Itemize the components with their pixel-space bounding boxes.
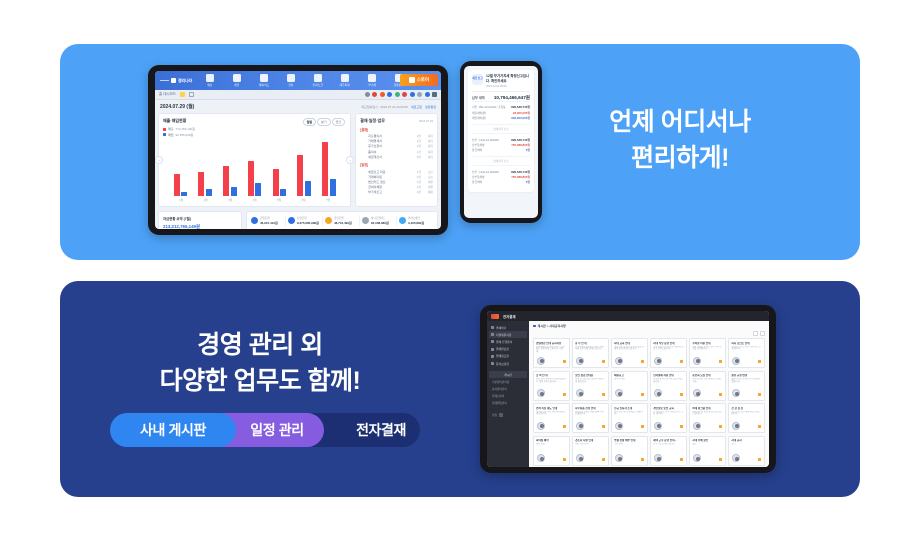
bar-group <box>268 169 291 196</box>
sidebar-item-5[interactable]: 문서보관함 <box>489 360 527 367</box>
bar-group <box>317 142 340 195</box>
account-grid-item[interactable]: 우리은행894,980원 <box>250 228 286 229</box>
status-badge <box>602 425 605 428</box>
board-card-body: 안녕하세요 총무팀 입니다. 사내 하계 휴무 일정 안내드립니다... <box>575 346 606 354</box>
board-card-title: 주차장 이용 안내 <box>692 342 723 345</box>
nav-item-6[interactable]: 부가세 <box>359 74 385 87</box>
status-badge <box>602 458 605 461</box>
list-item[interactable]: 법인카드 정산1건내일 <box>360 179 433 184</box>
avatar <box>576 422 584 430</box>
avatar <box>576 454 584 462</box>
tax-line-value: 896,538,740원 <box>511 105 530 109</box>
gear-icon[interactable] <box>425 92 430 97</box>
board-settings-icon[interactable] <box>499 413 503 417</box>
store-label: 스토어 <box>417 77 429 83</box>
chart-next-icon[interactable]: › <box>346 156 354 164</box>
sidebar-item-icon <box>491 348 494 351</box>
list-item-name: 세금계산서 <box>360 155 409 159</box>
legend-item-sales: 매출 772,156,140원 <box>163 127 346 131</box>
list-item-count: 3건 <box>411 190 421 194</box>
account-grid-item[interactable]: 농협894,190원 <box>287 228 323 229</box>
account-grid-item[interactable]: 신한카드894,890원 <box>398 228 434 229</box>
list-item[interactable]: 급여이체일1건내일 <box>360 185 433 190</box>
tax-total-row: 납부 세액 10,794,466,647원 <box>472 91 530 101</box>
sidebar-item-label: 문서보관함 <box>496 362 509 366</box>
bank-value: 8,375,080,980원 <box>297 221 319 225</box>
board-card-body: 근무 기준 안내드립니다 <box>653 443 684 451</box>
list-group-title: [결재] <box>360 127 433 132</box>
top-headline: 언제 어디서나 편리하게! <box>540 104 820 177</box>
status-badge <box>641 458 644 461</box>
avatar <box>654 422 662 430</box>
bar-chart-plot <box>163 140 346 196</box>
toggle-quarterly[interactable]: 분기 <box>317 118 331 126</box>
list-item-name: 급여이체일 <box>360 185 409 189</box>
chart-range-toggle: 월별 분기 연간 <box>303 118 346 126</box>
tax-notice-timestamp: 2023-12-01 09:00 <box>486 85 530 88</box>
board-card-body: 사내 시스템 보안 점검이 예정되어 있습니다... <box>575 378 606 386</box>
avatar <box>693 357 701 365</box>
board-card[interactable]: 사무용품 신청 안내사무용품 신청은 매월 첫째 주에 진행됩니다... <box>572 403 609 433</box>
bar-매출 <box>248 161 254 196</box>
info-icon[interactable] <box>387 92 392 97</box>
board-card[interactable]: 개인정보 보호 교육전 직원 필수 교육 과정입니다. 기한 내 이수... <box>650 403 687 433</box>
xaxis-tick: 1월 <box>169 198 193 202</box>
nav-label: 매입 <box>234 83 239 87</box>
calendar-icon[interactable] <box>402 92 407 97</box>
avatar <box>615 422 623 430</box>
board-card[interactable]: 동호회 모집 안내사내 동호회 신규 회원을 모집합니다... <box>689 371 726 401</box>
status-badge <box>680 360 683 363</box>
list-item-count: 3건 <box>411 134 421 138</box>
legend-swatch-purchase <box>163 133 166 136</box>
list-item-status: 오늘 <box>423 170 433 174</box>
status-badge <box>758 360 761 363</box>
bar-group <box>218 166 241 195</box>
sidebar-item-icon <box>491 333 494 336</box>
dashboard-body: 2024.07.29 (월) 최근접속일시 : 2024.07.29 14:02… <box>155 100 441 229</box>
bank-icon <box>325 217 332 224</box>
avatar <box>654 389 662 397</box>
xaxis-tick: 2월 <box>193 198 217 202</box>
board-card-title: 채용공고 <box>614 374 645 377</box>
status-badge <box>758 458 761 461</box>
tax-line: 매입세액(원)936,900,000원 <box>472 115 530 120</box>
board-card-title: 사내 교육 안내 <box>614 342 645 345</box>
list-item-count: 1건 <box>411 150 421 154</box>
board-card[interactable]: 급 여 안 내이달 급여 명세서가 발행되었습니다. 확인 부탁드립니다... <box>533 371 570 401</box>
bank-icon <box>362 217 369 224</box>
nav-label: 부가세 <box>368 83 375 87</box>
board-card-title: 재택 근무 운영 안내... <box>653 439 684 442</box>
promo-page: 경리나라 매출 매입 계좌/카드 급여 인사/노무 재무회계 부가세 경영관리 <box>0 0 920 540</box>
account-grid-item[interactable]: 카카오뱅크3,495,890원 <box>398 215 434 227</box>
sidebar-link[interactable]: 결재위임관리 <box>489 400 527 407</box>
list-item-status: 대기 <box>423 134 433 138</box>
top-promo-panel: 경리나라 매출 매입 계좌/카드 급여 인사/노무 재무회계 부가세 경영관리 <box>60 44 860 260</box>
star-icon[interactable] <box>180 92 185 97</box>
bar-group <box>194 172 217 196</box>
list-view-icon[interactable] <box>760 331 765 336</box>
legend-label: 매출 <box>168 127 174 131</box>
pill-board[interactable]: 사내 게시판 <box>110 413 236 447</box>
board-card[interactable]: 출장 규정 변경출장비 정산 규정이 일부 변경되었습니다... <box>728 371 765 401</box>
tax-line: 환급세액0원 <box>472 148 530 153</box>
chart-prev-icon[interactable]: ‹ <box>155 156 163 164</box>
bar-매입 <box>206 189 212 195</box>
tax-notice-card: 세금 신고 12월 부가가치세 확정신고입니다. 확인하세요 2023-12-0… <box>468 70 534 192</box>
toggle-yearly[interactable]: 연간 <box>332 118 346 126</box>
tax-line: 기업 : 892-12-04104 / 홍길동896,538,740원 <box>472 105 530 110</box>
bar-매출 <box>174 174 180 195</box>
refresh-button[interactable]: 새로고침 <box>411 105 422 109</box>
avatar <box>693 422 701 430</box>
list-item-name: 거래처미팅 <box>360 175 409 179</box>
list-item-count: 5건 <box>411 155 421 159</box>
top-headline-line1: 언제 어디서나 <box>540 104 820 140</box>
nav-icon-payroll <box>287 74 295 82</box>
tax-badge-icon: 세금 신고 <box>472 74 483 85</box>
bar-매출 <box>273 169 279 196</box>
nav-label: 급여 <box>288 83 293 87</box>
account-grid-item[interactable]: 국민은행48,716,490원 <box>324 215 360 227</box>
summary-value: 213,212,765,149원 <box>163 224 237 230</box>
bank-value: 46,915,410원 <box>260 221 278 225</box>
sidebar-item-0[interactable]: 결재하기 <box>489 324 527 331</box>
status-badge <box>758 425 761 428</box>
tablet-device-board: 전자결재 결재하기미결재문서함결재 진행문서결재완료함결재참조함문서보관함 게시… <box>480 305 776 473</box>
bottom-headline-line1: 경영 관리 외 <box>90 327 430 363</box>
pill-label: 전자결재 <box>356 420 406 440</box>
tax-line-label: 납부할세액 <box>472 143 484 147</box>
logo-mark-icon <box>171 78 176 83</box>
account-grid-item[interactable]: 수협은행94,030원 <box>324 228 360 229</box>
list-item-count: 1건 <box>411 170 421 174</box>
tax-line-value: 936,900,000원 <box>511 116 530 120</box>
list-item[interactable]: 품의서1건대기 <box>360 149 433 154</box>
board-card[interactable]: 전자결재 사용 안내전자결재 시스템 사용법을 안내드립니다... <box>650 371 687 401</box>
board-card-body: 수령 안내 <box>614 443 645 451</box>
tax-line-label: 납부 : 1344-01-000445 <box>472 170 499 174</box>
settings-icon[interactable] <box>365 92 370 97</box>
nav-item-0[interactable]: 매출 <box>197 74 223 87</box>
board-card[interactable]: 신규 입사자 소개이번 달 신규 입사자를 소개합니다... <box>611 403 648 433</box>
nav-item-5[interactable]: 재무회계 <box>332 74 358 87</box>
phone-device: 세금 신고 12월 부가가치세 확정신고입니다. 확인하세요 2023-12-0… <box>460 61 542 223</box>
sidebar-item-2[interactable]: 결재 진행문서 <box>489 338 527 345</box>
bar-매출 <box>198 172 204 196</box>
avatar <box>537 389 545 397</box>
sidebar-link[interactable]: 문서양식관리 <box>489 385 527 392</box>
board-card-title: 복지 포인트 안내 <box>731 342 762 345</box>
status-badge <box>680 393 683 396</box>
account-grid-item[interactable]: 기업은행46,915,410원 <box>250 215 286 227</box>
board-card-body: 연간 건강 검진 대상자를 안내드립니다... <box>731 411 762 419</box>
tax-line-value: 896,538,740원 <box>511 170 530 174</box>
tab-home-dashboard[interactable]: 홈 대시보드 <box>159 92 176 97</box>
avatar <box>693 389 701 397</box>
grid-view-icon[interactable] <box>753 331 758 336</box>
board-card[interactable]: 건 강 검 진연간 건강 검진 대상자를 안내드립니다... <box>728 403 765 433</box>
sales-purchase-chart-card: 매출·매입현황 월별 분기 연간 매출 772,156,140원 <box>158 113 351 207</box>
nav-label: 인사/노무 <box>313 83 324 87</box>
tax-item: 납부 : 1344-01-000445896,538,740원납부할세액750,… <box>472 133 530 156</box>
logo-bar-icon <box>160 80 169 81</box>
board-card[interactable]: 명절 선물 배부 안내수령 안내 <box>611 436 648 466</box>
list-item-name: 품의서 <box>360 150 409 154</box>
avatar <box>537 422 545 430</box>
tax-more-link[interactable]: 상세내역 보기 <box>472 124 530 133</box>
board-card[interactable]: 사내 카페 할인할인 <box>689 436 726 466</box>
dashboard-bottom-row: 자금현황 요약 (7월) 213,212,765,149원 기업은행46,915… <box>158 211 438 230</box>
legend-swatch-sales <box>163 128 166 131</box>
board-card-title: 경조사 지원 안내 <box>575 439 606 442</box>
feature-pill-row: 전자결재 일정 관리 사내 게시판 <box>110 413 420 447</box>
bar-group <box>243 161 266 196</box>
alert-icon[interactable] <box>372 92 377 97</box>
top-headline-line2: 편리하게! <box>540 140 820 176</box>
nav-icon-accounting <box>341 74 349 82</box>
tax-line-label: 매출세액(원) <box>472 111 486 115</box>
toggle-monthly[interactable]: 월별 <box>303 118 317 126</box>
nav-item-1[interactable]: 매입 <box>224 74 250 87</box>
board-card-title: 회의실 예약 <box>536 439 567 442</box>
board-card-body: 구내 식당 운영 시간이 변경되오니 참고 부탁드립니다... <box>653 346 684 354</box>
account-grid-item[interactable]: 토스뱅크84,890원 <box>361 228 397 229</box>
board-card-body: 예약 방법 <box>536 443 567 451</box>
tax-line-value: 92,900,000원 <box>513 111 530 115</box>
tax-total-label: 납부 세액 <box>472 95 485 100</box>
tax-notice-text: 12월 부가가치세 확정신고입니다. 확인하세요 2023-12-01 09:0… <box>486 74 530 88</box>
check-icon[interactable] <box>395 92 400 97</box>
avatar <box>615 454 623 462</box>
list-item-count: 2건 <box>411 175 421 179</box>
status-badge <box>563 393 566 396</box>
sidebar-item-icon <box>491 326 494 329</box>
tax-line-value: 0원 <box>526 148 530 152</box>
board-card[interactable]: 사내 식당 운영 안내구내 식당 운영 시간이 변경되오니 참고 부탁드립니다.… <box>650 338 687 368</box>
board-card[interactable]: 재택 근무 운영 안내...근무 기준 안내드립니다 <box>650 436 687 466</box>
board-card[interactable]: 회의실 예약예약 방법 <box>533 436 570 466</box>
bank-value: 48,716,490원 <box>334 221 352 225</box>
sidebar-link[interactable]: 기본양식관리함 <box>489 378 527 385</box>
list-item[interactable]: 세금계산서5건대기 <box>360 154 433 159</box>
board-card[interactable]: 주차장 이용 안내지하 주차장 공사로 임시 주차 구역을 운영합니다... <box>689 338 726 368</box>
dashboard-columns: 매출·매입현황 월별 분기 연간 매출 772,156,140원 <box>158 113 438 207</box>
board-card[interactable]: 휴 무 안 내안녕하세요 총무팀 입니다. 사내 하계 휴무 일정 안내드립니다… <box>572 338 609 368</box>
board-card-title: 신규 입사자 소개 <box>614 407 645 410</box>
bar-chart-xaxis: 1월2월3월4월5월6월7월 <box>163 196 346 202</box>
list-card-date: 2024.07.29 <box>419 119 433 123</box>
status-badge <box>719 393 722 396</box>
avatar <box>615 389 623 397</box>
list-item-count: 1건 <box>411 180 421 184</box>
dashboard-date-tools: 최근접속일시 : 2024.07.29 14:02:55 새로고침 설정편집 <box>361 105 436 109</box>
board-card-body: 사무용품 신청은 매월 첫째 주에 진행됩니다... <box>575 411 606 419</box>
list-item-status: 오늘 <box>423 175 433 179</box>
bank-icon <box>399 217 406 224</box>
board-logo-icon <box>491 314 499 319</box>
board-settings-label[interactable]: 설정 <box>492 413 497 417</box>
board-card-title: 사내 카페 할인 <box>692 439 723 442</box>
status-badge <box>758 393 761 396</box>
list-item-status: 대기 <box>423 139 433 143</box>
xaxis-tick: 6월 <box>291 198 315 202</box>
approval-schedule-card: 결재·일정·업무 2024.07.29 [결재]지출결의서3건대기거래명세서1건… <box>355 113 438 207</box>
tablet-device-dashboard: 경리나라 매출 매입 계좌/카드 급여 인사/노무 재무회계 부가세 경영관리 <box>148 65 448 235</box>
tax-notice-head: 세금 신고 12월 부가가치세 확정신고입니다. 확인하세요 2023-12-0… <box>472 74 530 88</box>
board-content: 게시판 > 사내공지사항 연말정산 안내 공지사항안녕하세요 인사팀 입니다. … <box>529 321 769 467</box>
avatar <box>732 357 740 365</box>
menu-icon[interactable] <box>432 92 437 97</box>
board-card[interactable]: 보안 점검 안내문사내 시스템 보안 점검이 예정되어 있습니다... <box>572 371 609 401</box>
chart-legend: 매출 772,156,140원 매입 92,355,620원 <box>163 127 346 137</box>
breadcrumb-icon <box>533 325 536 328</box>
status-badge <box>563 425 566 428</box>
bank-icon <box>288 217 295 224</box>
account-grid-item[interactable]: 하나은행카드84,008,980원 <box>361 215 397 227</box>
xaxis-tick: 5월 <box>267 198 291 202</box>
bar-매입 <box>231 187 237 195</box>
avatar <box>654 454 662 462</box>
tax-line-value: 750,088,800원 <box>511 143 530 147</box>
board-sidebar-links: 기본양식관리함문서양식관리결재선관리결재위임관리 <box>489 378 527 407</box>
board-card-title: 개인정보 보호 교육 <box>653 407 684 410</box>
board-card-body: 이번 달 신규 입사자를 소개합니다... <box>614 411 645 419</box>
status-badge <box>680 425 683 428</box>
summary-title: 자금현황 요약 (7월) <box>163 216 237 221</box>
bar-매출 <box>223 166 229 195</box>
board-card-title: 건 강 검 진 <box>731 407 762 410</box>
sidebar-item-4[interactable]: 결재참조함 <box>489 353 527 360</box>
dashboard-date-row: 2024.07.29 (월) 최근접속일시 : 2024.07.29 14:02… <box>158 103 438 113</box>
bank-value: 84,008,980원 <box>371 221 389 225</box>
bar-매출 <box>297 155 303 195</box>
board-card-body: 미사용 연차 촉진 제도에 대해 안내드립니다... <box>536 411 567 419</box>
list-item[interactable]: 휴가신청서2건대기 <box>360 144 433 149</box>
tax-line-value: 896,538,740원 <box>511 138 530 142</box>
tax-line-value: 0원 <box>526 180 530 184</box>
list-card-title: 결재·일정·업무 <box>360 118 385 124</box>
list-item[interactable]: 거래처미팅2건오늘 <box>360 174 433 179</box>
brand-logo[interactable]: 경리나라 <box>160 78 192 84</box>
board-card-title: 하계 워크숍 안내 <box>692 407 723 410</box>
bell-icon[interactable] <box>380 92 385 97</box>
nav-item-4[interactable]: 인사/노무 <box>305 74 331 87</box>
board-card[interactable]: 채용공고경력직 채용 <box>611 371 648 401</box>
board-card-body: 복지몰 포인트 사용 기한이 곧 만료됩니다... <box>731 346 762 354</box>
tax-more-link[interactable]: 상세내역 보기 <box>472 156 530 165</box>
list-group: [결재]지출결의서3건대기거래명세서1건대기휴가신청서2건대기품의서1건대기세금… <box>360 127 433 159</box>
avatar <box>732 422 740 430</box>
avatar <box>654 357 662 365</box>
board-card-body: 공지 <box>731 443 762 451</box>
store-button[interactable]: 스토어 <box>400 74 438 86</box>
bar-매입 <box>330 179 336 196</box>
board-card-body: 출장비 정산 규정이 일부 변경되었습니다... <box>731 378 762 386</box>
board-card-title: 명절 선물 배부 안내 <box>614 439 645 442</box>
avatar <box>576 357 584 365</box>
list-item[interactable]: 지출결의서3건대기 <box>360 134 433 139</box>
list-item-status: 내일 <box>423 180 433 184</box>
board-card[interactable]: 사내 공지공지 <box>728 436 765 466</box>
list-item[interactable]: 세금신고 마감1건오늘 <box>360 169 433 174</box>
tax-line-label: 납부할세액 <box>472 175 484 179</box>
list-item-status: 대기 <box>423 144 433 148</box>
bank-value: 3,495,890원 <box>408 221 424 225</box>
status-badge <box>641 425 644 428</box>
home-icon[interactable] <box>189 92 194 97</box>
sidebar-item-label: 미결재문서함 <box>496 333 511 337</box>
tax-line-value: 750,088,800원 <box>511 175 530 179</box>
list-item-name: 지출결의서 <box>360 134 409 138</box>
avatar <box>693 454 701 462</box>
list-item[interactable]: 부가세신고3건예정 <box>360 190 433 195</box>
sidebar-item-1[interactable]: 미결재문서함 <box>489 331 527 338</box>
legend-value: 92,355,620원 <box>176 133 194 137</box>
bottom-headline: 경영 관리 외 다양한 업무도 함께! <box>90 327 430 400</box>
list-group-title: [일정] <box>360 162 433 167</box>
bank-label: 카카오뱅크 <box>408 216 424 220</box>
board-card[interactable]: 사내 교육 안내직무 교육 및 안전 교육 일정을 아래와 같이 안내드립니다.… <box>611 338 648 368</box>
bank-label: 하나은행카드 <box>371 216 389 220</box>
xaxis-tick: 4월 <box>242 198 266 202</box>
tax-line-label: 환급세액 <box>472 148 482 152</box>
tax-line-label: 매입세액(원) <box>472 116 486 120</box>
board-card[interactable]: 복지 포인트 안내복지몰 포인트 사용 기한이 곧 만료됩니다... <box>728 338 765 368</box>
avatar <box>615 357 623 365</box>
nav-icon-account-card <box>260 74 268 82</box>
board-card[interactable]: 연차 촉진 제도 안내미사용 연차 촉진 제도에 대해 안내드립니다... <box>533 403 570 433</box>
board-card[interactable]: 하계 워크숍 안내하계 워크숍 일정 및 장소를 안내드립니다... <box>689 403 726 433</box>
sidebar-link[interactable]: 결재선관리 <box>489 393 527 400</box>
bar-매출 <box>322 142 328 195</box>
list-item-name: 법인카드 정산 <box>360 180 409 184</box>
board-card-grid: 연말정산 안내 공지사항안녕하세요 인사팀 입니다. 연말정산 관련 안내 드립… <box>533 338 765 467</box>
bar-매입 <box>305 181 311 196</box>
tax-notice-subtitle: 확인하세요 <box>491 79 507 83</box>
account-grid-item[interactable]: 신한은행8,375,080,980원 <box>287 215 323 227</box>
nav-label: 재무회계 <box>340 83 350 87</box>
list-item-status: 대기 <box>423 150 433 154</box>
list-item-name: 휴가신청서 <box>360 144 409 148</box>
print-icon[interactable] <box>417 92 422 97</box>
avatar <box>576 389 584 397</box>
board-card-title: 급 여 안 내 <box>536 374 567 377</box>
legend-label: 매입 <box>168 133 174 137</box>
board-sidebar-footer: 설정 <box>489 413 527 417</box>
list-item-status: 내일 <box>423 185 433 189</box>
status-badge <box>719 425 722 428</box>
sidebar-item-3[interactable]: 결재완료함 <box>489 346 527 353</box>
bank-label: 기업은행 <box>260 216 278 220</box>
board-card-title: 연말정산 안내 공지사항 <box>536 342 567 345</box>
cash-summary-card: 자금현황 요약 (7월) 213,212,765,149원 <box>158 211 242 230</box>
list-item-name: 부가세신고 <box>360 190 409 194</box>
nav-item-3[interactable]: 급여 <box>278 74 304 87</box>
board-card[interactable]: 연말정산 안내 공지사항안녕하세요 인사팀 입니다. 연말정산 관련 안내 드립… <box>533 338 570 368</box>
board-sidebar-items: 결재하기미결재문서함결재 진행문서결재완료함결재참조함문서보관함 <box>489 324 527 367</box>
sidebar-item-icon <box>491 340 494 343</box>
sidebar-item-label: 결재하기 <box>496 326 506 330</box>
pill-label: 일정 관리 <box>226 420 303 440</box>
board-card[interactable]: 경조사 지원 안내지원 기준 안내 <box>572 436 609 466</box>
board-card-title: 출장 규정 변경 <box>731 374 762 377</box>
save-icon[interactable] <box>410 92 415 97</box>
edit-layout-button[interactable]: 설정편집 <box>425 105 436 109</box>
board-card-body: 이달 급여 명세서가 발행되었습니다. 확인 부탁드립니다... <box>536 378 567 386</box>
nav-item-2[interactable]: 계좌/카드 <box>251 74 277 87</box>
